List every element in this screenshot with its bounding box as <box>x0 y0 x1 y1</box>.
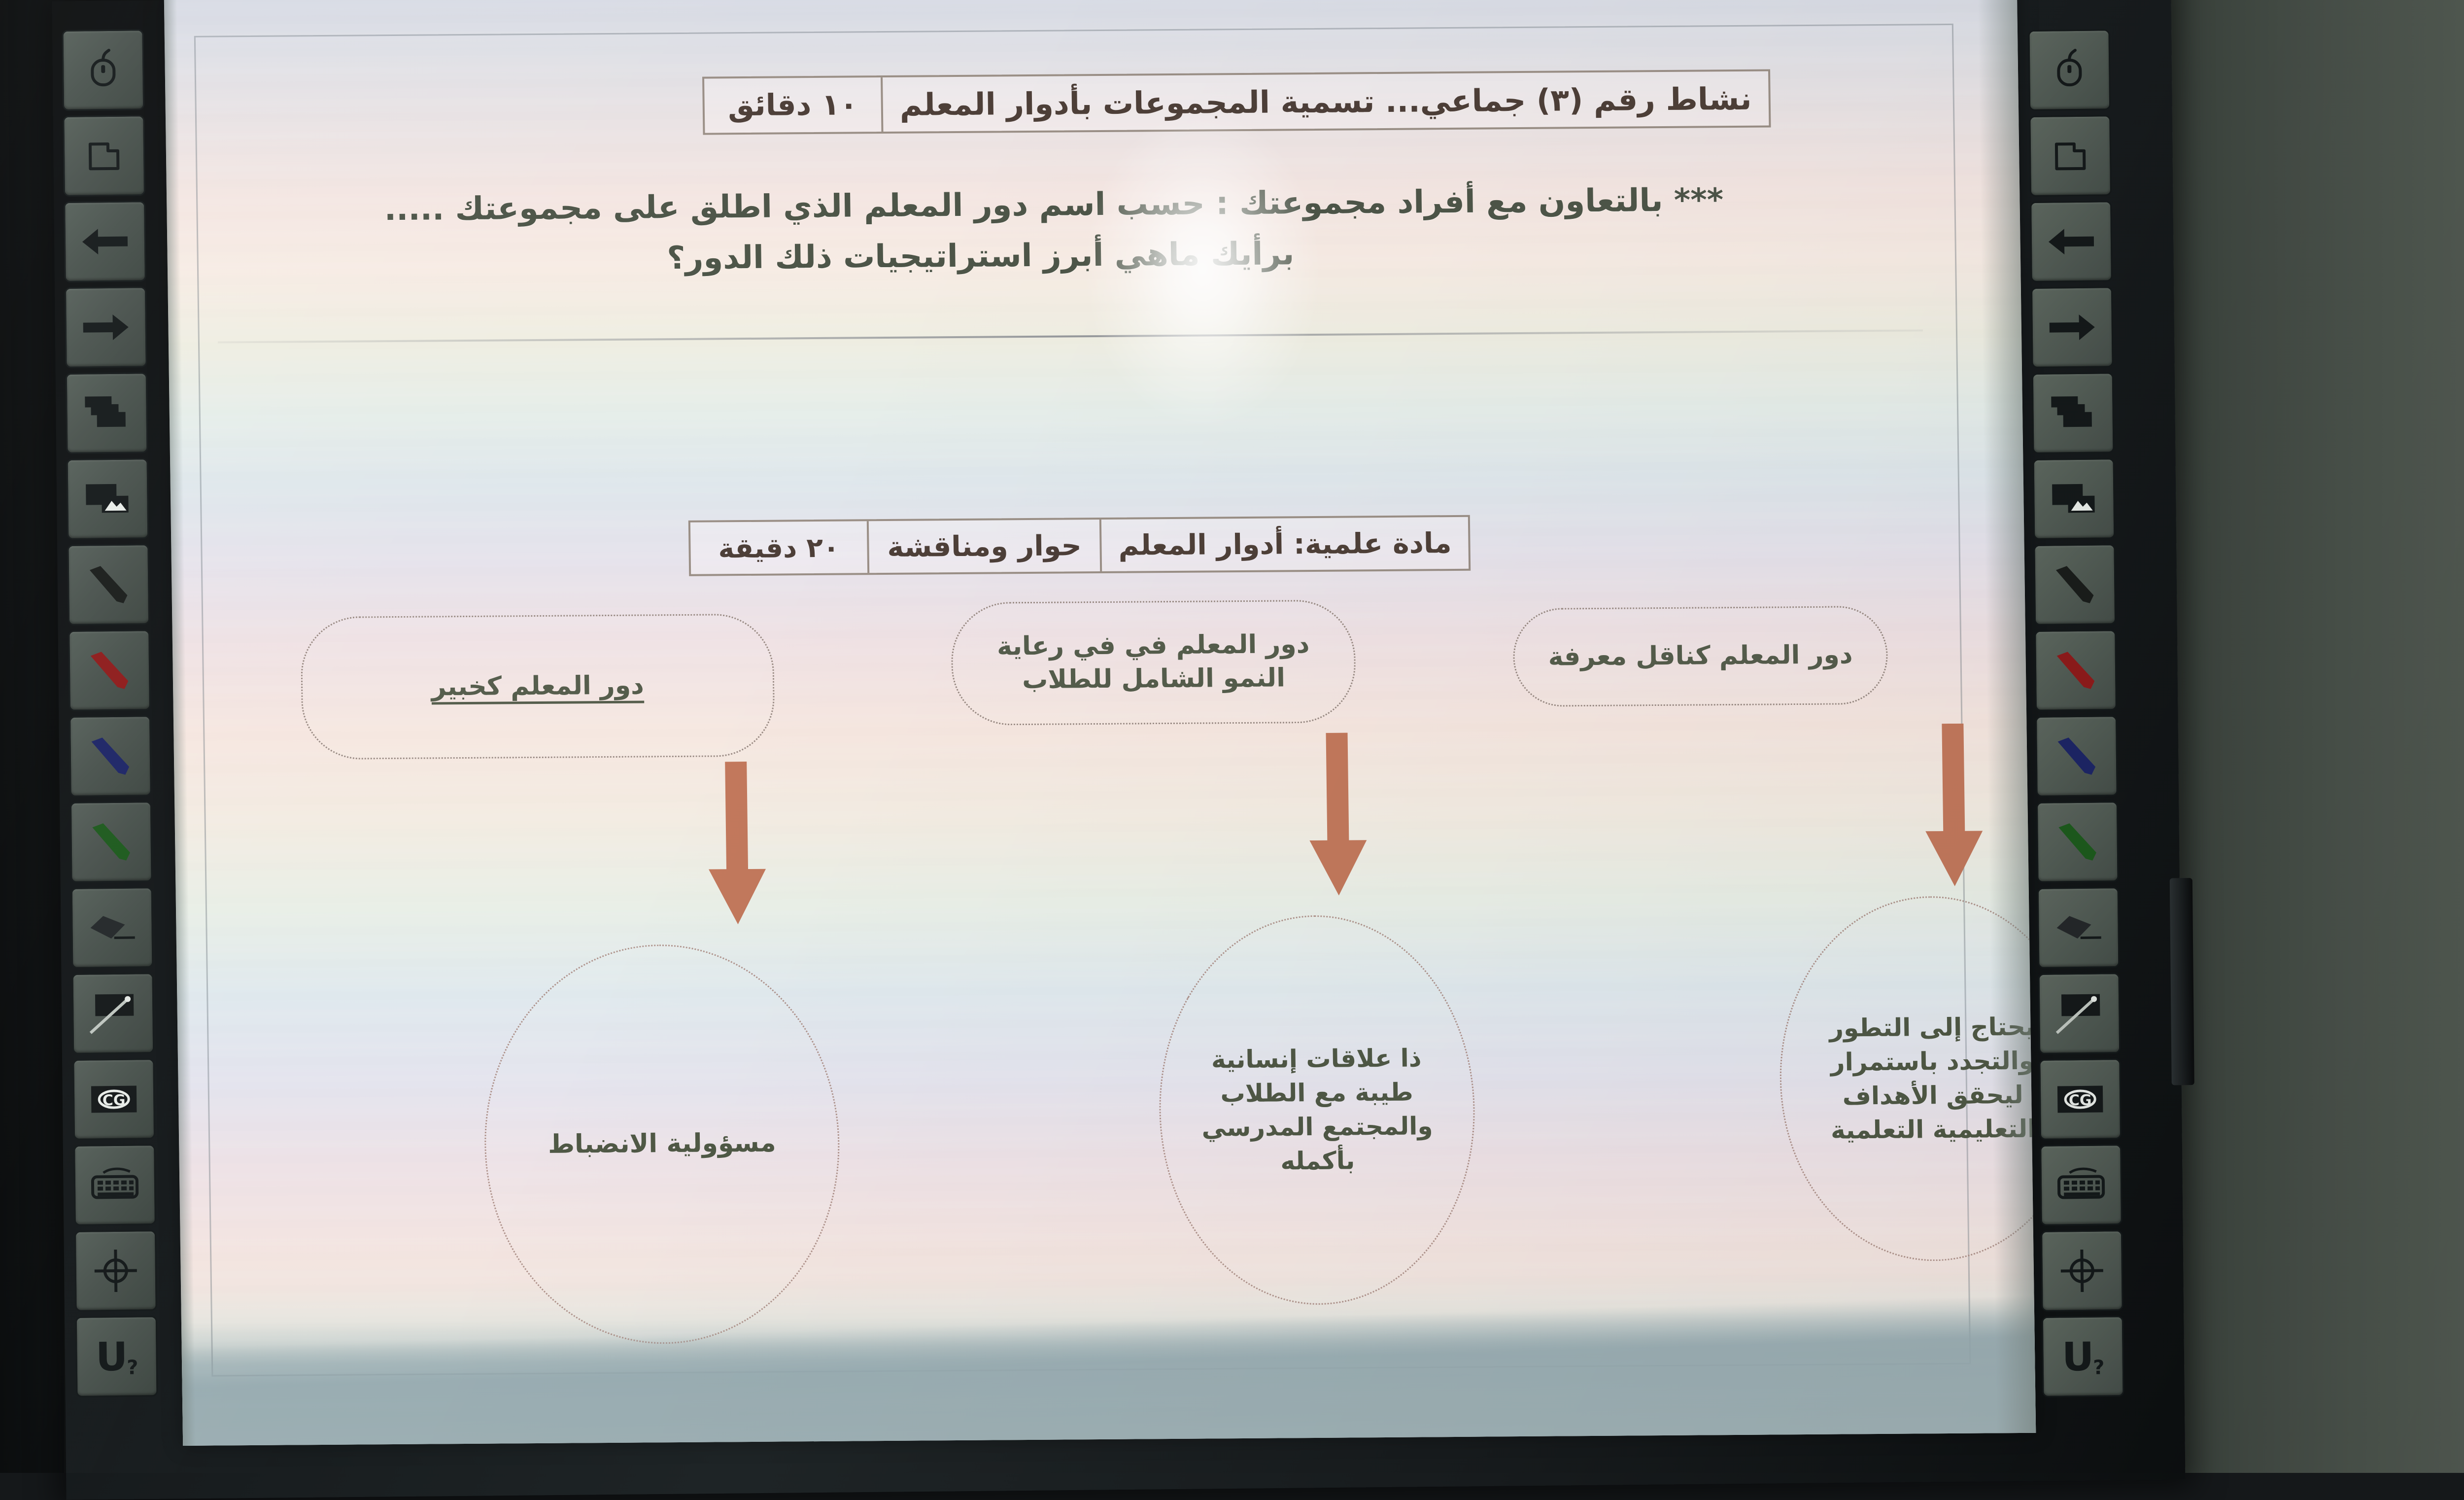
toolbar-left-whiteboard-pen-icon[interactable] <box>72 973 155 1054</box>
toolbar-right-eraser-icon[interactable] <box>2037 887 2120 969</box>
toolbar-left[interactable]: CGU? <box>62 29 163 1397</box>
role-box-knowledge-transmitter: دور المعلم كناقل معرفة <box>1512 606 1888 707</box>
prompt-line-2: برأيك ماهي أبرز استراتيجيات ذلك الدور؟ <box>197 227 1912 284</box>
down-arrow-right <box>1923 724 1984 889</box>
mouse-icon <box>2047 47 2092 93</box>
presentation-slide: نشاط رقم (٣) جماعي... تسمية المجموعات بأ… <box>194 14 1986 1382</box>
svg-text:?: ? <box>127 1357 138 1379</box>
activity-prompt: *** بالتعاون مع أفراد مجموعتك : حسب اسم … <box>196 177 1913 284</box>
help-icon: U? <box>2057 1333 2109 1379</box>
section-divider <box>218 329 1923 343</box>
pen-blue-icon <box>85 734 135 778</box>
result-circle-1-label: يحتاج إلى التطور والتجدد باستمرار ليحقق … <box>1800 1010 2036 1148</box>
pen-black-icon <box>2050 563 2100 607</box>
pen-blue-icon <box>2052 734 2101 778</box>
toolbar-right[interactable]: CGU? <box>2028 29 2129 1397</box>
toolbar-left-arrow-left-icon[interactable] <box>64 201 146 282</box>
bezel-side-highlight <box>2170 878 2194 1085</box>
help-icon: U? <box>91 1333 142 1379</box>
toolbar-right-arrow-left-icon[interactable] <box>2030 201 2113 282</box>
toolbar-right-pen-black-icon[interactable] <box>2033 544 2116 626</box>
toolbar-left-pen-red-icon[interactable] <box>68 629 151 711</box>
result-circle-2-label: ذا علاقات إنسانية طيبة مع الطلاب والمجتم… <box>1180 1041 1455 1179</box>
material-duration-cell: ٢٠ دقيقة <box>690 521 869 574</box>
pen-green-icon <box>2053 820 2102 864</box>
role-box-growth-care: دور المعلم في في رعاية النمو الشامل للطل… <box>951 599 1356 726</box>
toolbar-right-pen-green-icon[interactable] <box>2036 801 2119 883</box>
spotlight-icon: CG <box>88 1083 140 1115</box>
result-circle-relations: ذا علاقات إنسانية طيبة مع الطلاب والمجتم… <box>1157 914 1477 1306</box>
toolbar-right-pen-blue-icon[interactable] <box>2035 715 2118 797</box>
layers-icon <box>2048 393 2098 433</box>
page-icon <box>81 133 127 179</box>
toolbar-left-image-icon[interactable] <box>67 458 149 540</box>
toolbar-right-mouse-icon[interactable] <box>2028 29 2111 111</box>
whiteboard-pen-icon <box>2054 992 2104 1035</box>
svg-text:U: U <box>2062 1334 2094 1380</box>
role-box-3-label: دور المعلم كخبير <box>431 669 644 704</box>
activity-header-table: نشاط رقم (٣) جماعي... تسمية المجموعات بأ… <box>702 69 1771 135</box>
layers-icon <box>82 393 132 433</box>
arrow-left-icon <box>2047 224 2096 259</box>
keyboard-icon <box>89 1166 141 1203</box>
toolbar-left-calibrate-icon[interactable] <box>74 1230 157 1312</box>
toolbar-right-image-icon[interactable] <box>2033 458 2116 540</box>
mouse-icon <box>80 47 126 93</box>
spotlight-icon: CG <box>2054 1083 2106 1115</box>
role-box-1-label: دور المعلم كناقل معرفة <box>1548 639 1853 674</box>
arrow-right-icon <box>2047 310 2097 345</box>
svg-text:CG: CG <box>2069 1092 2092 1109</box>
toolbar-right-pen-red-icon[interactable] <box>2034 629 2117 711</box>
toolbar-left-arrow-right-icon[interactable] <box>65 286 147 368</box>
svg-text:?: ? <box>2093 1357 2105 1379</box>
role-box-2-label: دور المعلم في في رعاية النمو الشامل للطل… <box>972 628 1335 697</box>
image-icon <box>83 481 133 517</box>
activity-title-cell: نشاط رقم (٣) جماعي... تسمية المجموعات بأ… <box>883 71 1769 132</box>
toolbar-left-layers-icon[interactable] <box>66 372 148 454</box>
toolbar-right-keyboard-icon[interactable] <box>2040 1144 2122 1226</box>
page-icon <box>2048 133 2093 179</box>
result-circle-3-label: مسؤولية الانضباط <box>548 1126 776 1163</box>
toolbar-right-help-icon[interactable]: U? <box>2042 1316 2124 1397</box>
svg-text:U: U <box>96 1334 128 1380</box>
toolbar-left-pen-black-icon[interactable] <box>67 544 150 626</box>
calibrate-icon <box>92 1248 139 1294</box>
whiteboard-pen-icon <box>88 992 138 1035</box>
toolbar-right-calibrate-icon[interactable] <box>2041 1230 2123 1312</box>
keyboard-icon <box>2055 1166 2108 1203</box>
arrow-left-icon <box>80 224 130 259</box>
arrow-right-icon <box>81 310 131 345</box>
svg-text:CG: CG <box>103 1092 126 1109</box>
toolbar-right-arrow-right-icon[interactable] <box>2031 286 2114 368</box>
toolbar-left-keyboard-icon[interactable] <box>73 1144 156 1226</box>
toolbar-left-spotlight-icon[interactable]: CG <box>72 1058 155 1140</box>
result-circle-discipline: مسؤولية الانضباط <box>482 943 842 1345</box>
role-box-expert: دور المعلم كخبير <box>300 614 775 760</box>
material-method-cell: حوار ومناقشة <box>869 520 1102 573</box>
material-subject-cell: مادة علمية: أدوار المعلم <box>1101 517 1469 571</box>
toolbar-right-layers-icon[interactable] <box>2032 372 2115 454</box>
toolbar-left-mouse-icon[interactable] <box>62 29 144 111</box>
toolbar-left-pen-green-icon[interactable] <box>70 801 153 883</box>
toolbar-left-page-icon[interactable] <box>63 115 145 197</box>
pen-green-icon <box>86 820 136 864</box>
wall-right <box>2158 0 2464 1473</box>
toolbar-right-spotlight-icon[interactable]: CG <box>2039 1058 2122 1140</box>
calibrate-icon <box>2058 1248 2105 1294</box>
toolbar-left-help-icon[interactable]: U? <box>75 1316 158 1397</box>
room-background: نشاط رقم (٣) جماعي... تسمية المجموعات بأ… <box>0 0 2464 1473</box>
pen-black-icon <box>84 563 134 607</box>
eraser-icon <box>2053 907 2104 947</box>
down-arrow-middle <box>1307 733 1369 898</box>
toolbar-left-eraser-icon[interactable] <box>71 887 154 969</box>
pen-red-icon <box>2051 649 2101 693</box>
toolbar-right-whiteboard-pen-icon[interactable] <box>2038 973 2121 1054</box>
toolbar-left-pen-blue-icon[interactable] <box>69 715 152 797</box>
eraser-icon <box>86 907 138 947</box>
down-arrow-left <box>706 762 767 927</box>
prompt-line-1: *** بالتعاون مع أفراد مجموعتك : حسب اسم … <box>384 182 1724 228</box>
projection-screen[interactable]: نشاط رقم (٣) جماعي... تسمية المجموعات بأ… <box>164 0 2036 1446</box>
image-icon <box>2049 481 2099 517</box>
material-info-table: مادة علمية: أدوار المعلم حوار ومناقشة ٢٠… <box>688 515 1471 576</box>
toolbar-right-page-icon[interactable] <box>2029 115 2112 197</box>
pen-red-icon <box>85 649 135 693</box>
result-circle-development: يحتاج إلى التطور والتجدد باستمرار ليحقق … <box>1778 895 2036 1262</box>
activity-duration-cell: ١٠ دقائق <box>704 77 883 133</box>
